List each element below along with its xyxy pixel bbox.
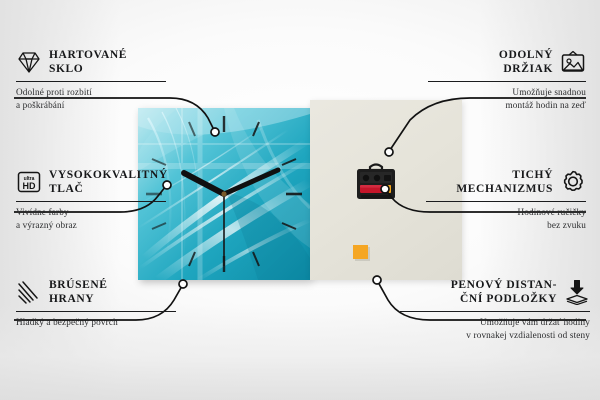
feature-desc-line2: bez zvuku bbox=[426, 219, 586, 232]
feature-title: ODOLNÝ DRŽIAK bbox=[499, 48, 553, 76]
feature-title-line1: PENOVÝ DISTAN- bbox=[451, 278, 557, 292]
feature-header: BRÚSENÉ HRANY bbox=[16, 278, 176, 306]
arrow-onto-layers-icon bbox=[564, 279, 590, 305]
feature-title: HARTOVANÉ SKLO bbox=[49, 48, 127, 76]
feature-desc-line1: Hodinové ručičky bbox=[426, 206, 586, 219]
feature-header: TICHÝ MECHANIZMUS bbox=[426, 168, 586, 196]
feature-ground-edges: BRÚSENÉ HRANY Hladký a bezpečný povrch bbox=[16, 278, 176, 329]
feature-tempered-glass: HARTOVANÉ SKLO Odolné proti rozbití a po… bbox=[16, 48, 166, 111]
feature-description: Odolné proti rozbití a poškrábání bbox=[16, 86, 166, 111]
feature-foam-spacers: PENOVÝ DISTAN- ČNÍ PODLOŽKY Umožňuje vám… bbox=[400, 278, 590, 341]
feature-high-quality-print: ultra HD VYSOKOKVALITNÝ TLAČ Vivídne far… bbox=[16, 168, 166, 231]
feature-title: VYSOKOKVALITNÝ TLAČ bbox=[49, 168, 168, 196]
ultra-hd-bottom-text: HD bbox=[23, 181, 36, 191]
feature-header: ODOLNÝ DRŽIAK bbox=[428, 48, 586, 76]
connector-nodes bbox=[163, 128, 393, 288]
diagonal-lines-icon bbox=[16, 279, 42, 305]
feature-silent-mechanism: TICHÝ MECHANIZMUS Hodinové ručičky bez z… bbox=[426, 168, 586, 231]
feature-divider bbox=[16, 311, 176, 312]
feature-desc-line1: Vivídne farby bbox=[16, 206, 166, 219]
ultra-hd-icon: ultra HD bbox=[16, 169, 42, 195]
feature-title: BRÚSENÉ HRANY bbox=[49, 278, 108, 306]
feature-title-line1: HARTOVANÉ bbox=[49, 48, 127, 62]
feature-title-line2: SKLO bbox=[49, 62, 127, 76]
feature-title-line1: BRÚSENÉ bbox=[49, 278, 108, 292]
feature-divider bbox=[426, 201, 586, 202]
feature-description: Vivídne farby a výrazný obraz bbox=[16, 206, 166, 231]
feature-title-line2: ČNÍ PODLOŽKY bbox=[451, 292, 557, 306]
feature-title-line1: ODOLNÝ bbox=[499, 48, 553, 62]
feature-divider bbox=[16, 81, 166, 82]
feature-title-line2: TLAČ bbox=[49, 182, 168, 196]
feature-title: PENOVÝ DISTAN- ČNÍ PODLOŽKY bbox=[451, 278, 557, 306]
feature-desc-line2: a poškrábání bbox=[16, 99, 166, 112]
feature-header: HARTOVANÉ SKLO bbox=[16, 48, 166, 76]
feature-title: TICHÝ MECHANIZMUS bbox=[456, 168, 553, 196]
gear-icon bbox=[560, 169, 586, 195]
feature-title-line1: TICHÝ bbox=[456, 168, 553, 182]
feature-desc-line2: a výrazný obraz bbox=[16, 219, 166, 232]
feature-title-line2: MECHANIZMUS bbox=[456, 182, 553, 196]
feature-desc-line1: Umožňuje snadnou bbox=[428, 86, 586, 99]
feature-divider bbox=[428, 81, 586, 82]
feature-desc-line1: Umožňuje vám držať hodiny bbox=[400, 316, 590, 329]
feature-header: PENOVÝ DISTAN- ČNÍ PODLOŽKY bbox=[400, 278, 590, 306]
feature-title-line2: HRANY bbox=[49, 292, 108, 306]
feature-description: Umožňuje snadnou montáž hodin na zeď bbox=[428, 86, 586, 111]
feature-divider bbox=[400, 311, 590, 312]
feature-desc-line2: v rovnakej vzdialenosti od steny bbox=[400, 329, 590, 342]
feature-description: Hodinové ručičky bez zvuku bbox=[426, 206, 586, 231]
feature-durable-holder: ODOLNÝ DRŽIAK Umožňuje snadnou montáž ho… bbox=[428, 48, 586, 111]
picture-hanger-icon bbox=[560, 49, 586, 75]
feature-header: ultra HD VYSOKOKVALITNÝ TLAČ bbox=[16, 168, 166, 196]
feature-desc-line1: Odolné proti rozbití bbox=[16, 86, 166, 99]
feature-description: Hladký a bezpečný povrch bbox=[16, 316, 176, 329]
feature-description: Umožňuje vám držať hodiny v rovnakej vzd… bbox=[400, 316, 590, 341]
feature-divider bbox=[16, 201, 166, 202]
feature-title-line1: VYSOKOKVALITNÝ bbox=[49, 168, 168, 182]
product-infographic: HARTOVANÉ SKLO Odolné proti rozbití a po… bbox=[0, 0, 600, 400]
diamond-icon bbox=[16, 49, 42, 75]
feature-desc-line1: Hladký a bezpečný povrch bbox=[16, 316, 176, 329]
feature-desc-line2: montáž hodin na zeď bbox=[428, 99, 586, 112]
feature-title-line2: DRŽIAK bbox=[499, 62, 553, 76]
